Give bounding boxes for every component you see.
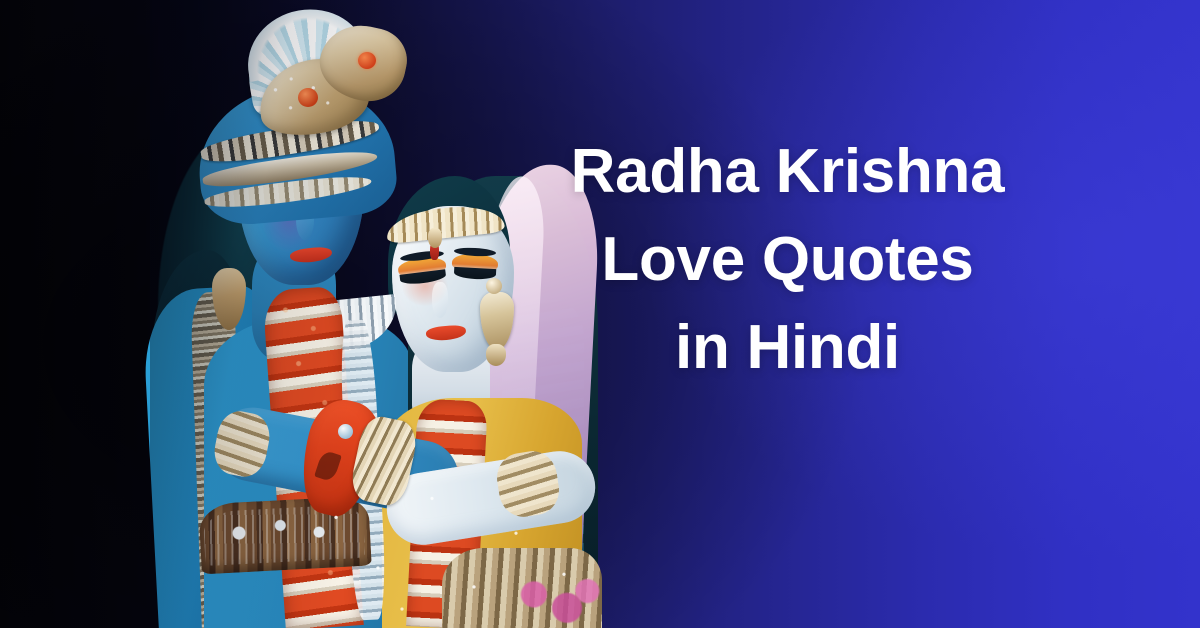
hand-ring [338, 424, 353, 439]
krishna-crest-gem [358, 52, 376, 69]
headline-line-3: in Hindi [545, 304, 1030, 392]
radha-skirt-floral [510, 572, 602, 628]
radha-krishna-illustration [150, 0, 600, 628]
social-banner: Radha Krishna Love Quotes in Hindi [0, 0, 1200, 628]
krishna-crown-gem [298, 88, 318, 107]
radha-nose [432, 282, 448, 318]
radha-earring-drop [486, 344, 506, 366]
headline-line-1: Radha Krishna [545, 128, 1030, 216]
headline-line-2: Love Quotes [545, 216, 1030, 304]
page-title: Radha Krishna Love Quotes in Hindi [545, 128, 1030, 392]
radha-earring-stud [486, 278, 502, 294]
maang-tikka-pendant [428, 228, 442, 248]
